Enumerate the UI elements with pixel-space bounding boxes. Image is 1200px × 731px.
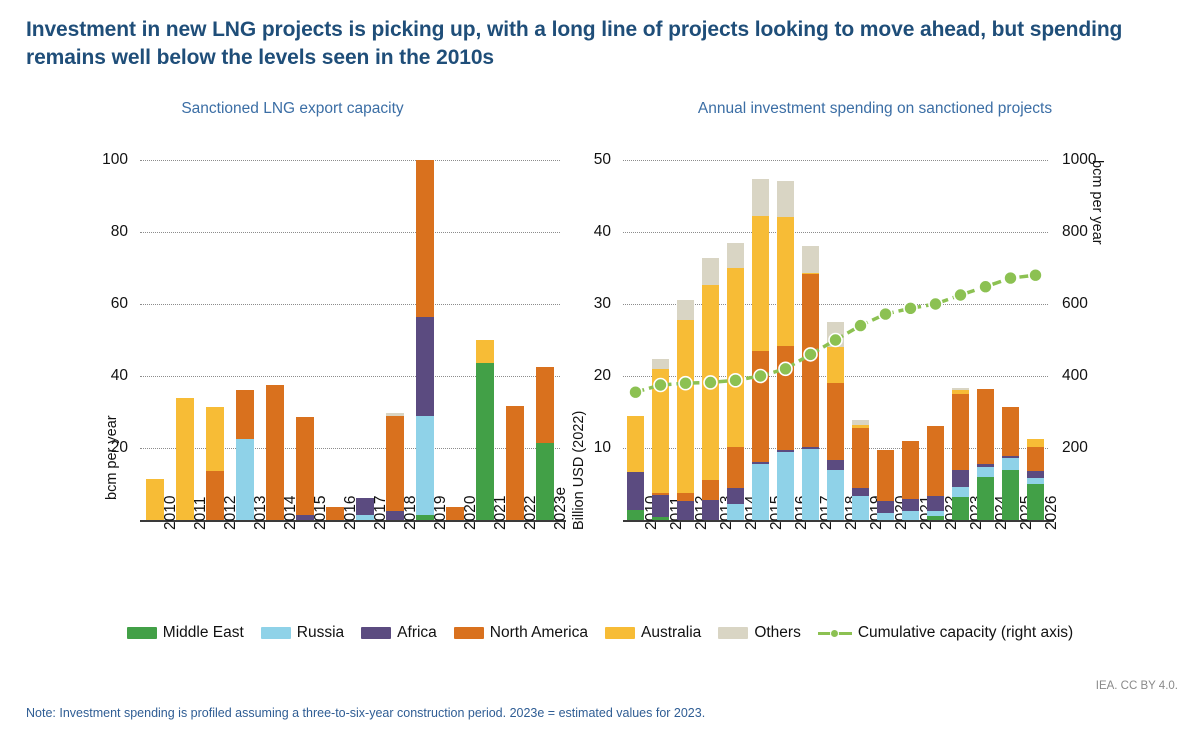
- bar-segment-others: [827, 322, 844, 347]
- bar-segment-north-america: [236, 390, 254, 439]
- bar-2021[interactable]: [476, 160, 494, 520]
- bar-segment-russia: [852, 496, 869, 520]
- bar-segment-africa: [827, 460, 844, 470]
- chart-panel-annual-investment: Annual investment spending on sanctioned…: [565, 100, 1185, 600]
- gridline: [140, 448, 560, 449]
- bar-segment-north-america: [1002, 407, 1019, 456]
- bar-segment-australia: [852, 425, 869, 428]
- legend-item-others[interactable]: Others: [718, 624, 801, 642]
- bar-segment-australia: [727, 268, 744, 447]
- bar-segment-middle-east: [977, 477, 994, 520]
- bar-2010[interactable]: [146, 160, 164, 520]
- bar-segment-africa: [1027, 471, 1044, 477]
- bar-segment-others: [952, 388, 969, 390]
- bar-segment-north-america: [802, 274, 819, 447]
- bar-segment-middle-east: [927, 516, 944, 520]
- bar-segment-australia: [627, 416, 644, 473]
- bar-segment-middle-east: [627, 510, 644, 520]
- bar-segment-africa: [977, 464, 994, 468]
- bar-segment-middle-east: [1002, 470, 1019, 520]
- plot-area-left: 2040608010020102011201220132014201520162…: [140, 160, 560, 520]
- legend-item-label: Middle East: [163, 624, 244, 642]
- bar-segment-russia: [977, 467, 994, 476]
- bar-2026[interactable]: [1027, 160, 1044, 520]
- bar-segment-north-america: [416, 160, 434, 317]
- legend-swatch-icon: [261, 627, 291, 639]
- bar-segment-africa: [416, 317, 434, 416]
- bar-2018[interactable]: [827, 160, 844, 520]
- bar-segment-others: [802, 246, 819, 273]
- bar-segment-africa: [752, 462, 769, 463]
- bar-2020[interactable]: [877, 160, 894, 520]
- bar-2011[interactable]: [176, 160, 194, 520]
- bar-2012[interactable]: [677, 160, 694, 520]
- bar-2021[interactable]: [902, 160, 919, 520]
- y-axis-tick-label-secondary: 800: [1062, 223, 1088, 241]
- bar-segment-australia: [652, 369, 669, 493]
- legend-item-middle-east[interactable]: Middle East: [127, 624, 244, 642]
- bar-segment-africa: [702, 500, 719, 520]
- legend-item-cumulative-capacity-right-axis[interactable]: Cumulative capacity (right axis): [818, 624, 1073, 642]
- page-title: Investment in new LNG projects is pickin…: [26, 16, 1156, 71]
- bar-2016[interactable]: [777, 160, 794, 520]
- bar-segment-north-america: [852, 428, 869, 488]
- bar-2016[interactable]: [326, 160, 344, 520]
- bar-2015[interactable]: [752, 160, 769, 520]
- bar-2014[interactable]: [266, 160, 284, 520]
- bar-segment-russia: [827, 470, 844, 520]
- bar-segment-africa: [677, 501, 694, 520]
- bar-2013[interactable]: [236, 160, 254, 520]
- bar-segment-africa: [652, 495, 669, 517]
- bar-segment-north-america: [727, 447, 744, 489]
- gridline: [140, 304, 560, 305]
- legend-swatch-icon: [605, 627, 635, 639]
- x-axis-baseline: [623, 520, 1054, 522]
- bar-segment-australia: [952, 390, 969, 394]
- bar-2017[interactable]: [356, 160, 374, 520]
- x-axis-tick-label: 2026: [1043, 496, 1061, 530]
- bar-segment-middle-east: [1027, 484, 1044, 520]
- bar-segment-australia: [802, 273, 819, 274]
- bar-segment-russia: [1027, 478, 1044, 484]
- chart-title-right: Annual investment spending on sanctioned…: [565, 100, 1185, 118]
- y-axis-tick-label: 50: [594, 151, 611, 169]
- bar-segment-north-america: [927, 426, 944, 495]
- bar-segment-australia: [677, 320, 694, 493]
- bar-segment-australia: [206, 407, 224, 472]
- bar-segment-australia: [827, 347, 844, 383]
- bar-segment-north-america: [536, 367, 554, 443]
- y-axis-tick-label: 40: [111, 367, 128, 385]
- bar-2022[interactable]: [506, 160, 524, 520]
- legend-line-icon: [818, 627, 852, 639]
- bar-segment-russia: [927, 511, 944, 517]
- bar-segment-africa: [902, 499, 919, 511]
- bar-segment-middle-east: [952, 497, 969, 520]
- bar-segment-russia: [1002, 458, 1019, 470]
- bar-segment-north-america: [702, 480, 719, 499]
- bar-2013[interactable]: [702, 160, 719, 520]
- legend-swatch-icon: [718, 627, 748, 639]
- bar-segment-africa: [952, 470, 969, 487]
- y-axis-tick-label-secondary: 200: [1062, 439, 1088, 457]
- y-axis-label-left: bcm per year: [104, 415, 120, 500]
- bar-segment-africa: [852, 488, 869, 495]
- bar-2019[interactable]: [416, 160, 434, 520]
- bar-segment-russia: [877, 513, 894, 520]
- bar-segment-australia: [777, 217, 794, 346]
- legend-item-africa[interactable]: Africa: [361, 624, 437, 642]
- legend-item-label: Russia: [297, 624, 344, 642]
- y-axis-tick-label: 20: [111, 439, 128, 457]
- y-axis-label-right-panel-right: bcm per year: [1089, 160, 1105, 245]
- bar-2010[interactable]: [627, 160, 644, 520]
- bar-segment-russia: [777, 452, 794, 520]
- bar-segment-north-america: [877, 450, 894, 501]
- bar-segment-africa: [877, 501, 894, 513]
- gridline: [140, 376, 560, 377]
- y-axis-tick-label: 10: [594, 439, 611, 457]
- legend-item-label: Australia: [641, 624, 701, 642]
- bar-2019[interactable]: [852, 160, 869, 520]
- bar-segment-others: [652, 359, 669, 369]
- bar-segment-others: [727, 243, 744, 268]
- bar-2022[interactable]: [927, 160, 944, 520]
- bar-segment-north-america: [652, 493, 669, 495]
- y-axis-tick-label: 30: [594, 295, 611, 313]
- y-axis-tick-label: 20: [594, 367, 611, 385]
- legend-item-label: Africa: [397, 624, 437, 642]
- gridline: [140, 232, 560, 233]
- y-axis-label-right-panel-left: Billion USD (2022): [571, 411, 587, 530]
- bar-segment-north-america: [902, 441, 919, 499]
- bar-segment-others: [702, 258, 719, 285]
- bar-segment-australia: [702, 285, 719, 480]
- y-axis-tick-label: 100: [102, 151, 128, 169]
- bar-segment-africa: [727, 488, 744, 504]
- y-axis-tick-label: 60: [111, 295, 128, 313]
- bar-segment-others: [677, 300, 694, 319]
- y-axis-tick-label-secondary: 1000: [1062, 151, 1096, 169]
- bar-segment-north-america: [952, 394, 969, 470]
- bar-segment-russia: [902, 511, 919, 520]
- bar-2023e[interactable]: [536, 160, 554, 520]
- iea-credit: IEA. CC BY 4.0.: [1096, 680, 1178, 692]
- legend-item-russia[interactable]: Russia: [261, 624, 344, 642]
- bar-segment-others: [852, 420, 869, 425]
- bar-segment-north-america: [1027, 447, 1044, 471]
- bar-segment-australia: [752, 216, 769, 351]
- bar-2017[interactable]: [802, 160, 819, 520]
- chart-note: Note: Investment spending is profiled as…: [26, 706, 705, 720]
- legend-swatch-icon: [361, 627, 391, 639]
- plot-area-right: 1020304050200400600800100020102011201220…: [623, 160, 1048, 520]
- legend-swatch-icon: [127, 627, 157, 639]
- bar-segment-north-america: [777, 346, 794, 450]
- bar-segment-africa: [802, 447, 819, 449]
- bar-segment-russia: [952, 487, 969, 497]
- y-axis-tick-label-secondary: 400: [1062, 367, 1088, 385]
- bar-2014[interactable]: [727, 160, 744, 520]
- chart-legend: Middle EastRussiaAfricaNorth AmericaAust…: [0, 624, 1200, 642]
- y-axis-tick-label: 40: [594, 223, 611, 241]
- legend-item-australia[interactable]: Australia: [605, 624, 701, 642]
- bar-segment-australia: [476, 340, 494, 363]
- bar-segment-north-america: [827, 383, 844, 459]
- bar-2011[interactable]: [652, 160, 669, 520]
- y-axis-tick-label: 80: [111, 223, 128, 241]
- bar-segment-africa: [1002, 456, 1019, 458]
- y-axis-tick-label-secondary: 600: [1062, 295, 1088, 313]
- bar-segment-russia: [752, 464, 769, 520]
- bar-segment-australia: [1027, 439, 1044, 447]
- bar-segment-africa: [627, 472, 644, 509]
- bar-segment-others: [777, 181, 794, 217]
- bar-segment-africa: [777, 450, 794, 451]
- bar-segment-africa: [927, 496, 944, 511]
- bar-segment-north-america: [677, 493, 694, 502]
- bar-2024[interactable]: [977, 160, 994, 520]
- bar-2015[interactable]: [296, 160, 314, 520]
- bar-2012[interactable]: [206, 160, 224, 520]
- bar-2023[interactable]: [952, 160, 969, 520]
- bar-segment-russia: [802, 449, 819, 520]
- legend-item-label: North America: [490, 624, 588, 642]
- legend-item-label: Cumulative capacity (right axis): [858, 624, 1073, 642]
- chart-title-left: Sanctioned LNG export capacity: [20, 100, 565, 118]
- bar-segment-middle-east: [652, 517, 669, 520]
- bar-segment-others: [752, 179, 769, 216]
- bar-2020[interactable]: [446, 160, 464, 520]
- gridline: [140, 160, 560, 161]
- bar-segment-russia: [727, 504, 744, 520]
- legend-item-north-america[interactable]: North America: [454, 624, 588, 642]
- legend-item-label: Others: [754, 624, 801, 642]
- bar-2018[interactable]: [386, 160, 404, 520]
- bar-segment-north-america: [977, 389, 994, 464]
- bar-2025[interactable]: [1002, 160, 1019, 520]
- bar-segment-north-america: [752, 351, 769, 463]
- bar-segment-others: [386, 413, 404, 416]
- legend-swatch-icon: [454, 627, 484, 639]
- chart-panel-sanctioned-capacity: Sanctioned LNG export capacity bcm per y…: [20, 100, 565, 600]
